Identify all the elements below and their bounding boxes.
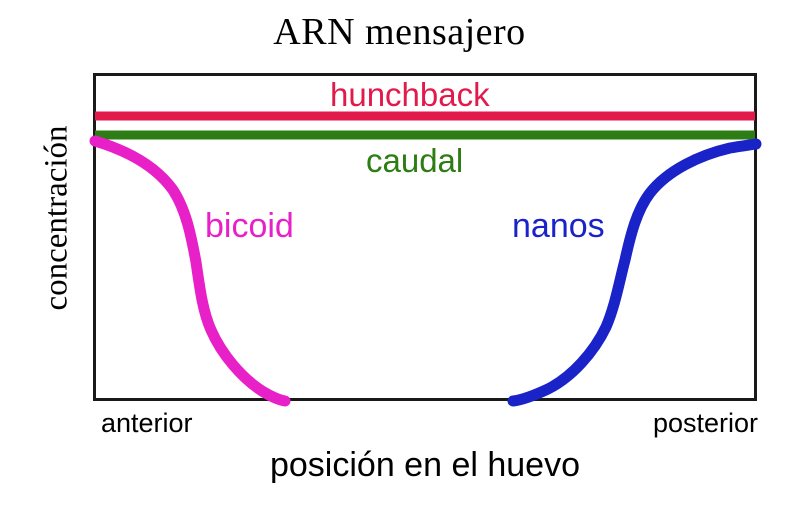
x-tick-anterior: anterior xyxy=(101,408,193,439)
series-label-nanos: nanos xyxy=(512,207,605,246)
series-label-caudal: caudal xyxy=(366,142,463,180)
x-tick-posterior: posterior xyxy=(653,408,758,439)
series-label-hunchback: hunchback xyxy=(330,76,490,114)
page-title: ARN mensajero xyxy=(0,10,799,54)
chart-figure: ARN mensajero concentración hunchback ca… xyxy=(0,0,799,512)
plot-area xyxy=(93,73,757,401)
x-axis-label: posición en el huevo xyxy=(93,446,757,485)
y-axis-label: concentración xyxy=(39,125,76,310)
series-label-bicoid: bicoid xyxy=(205,207,294,246)
